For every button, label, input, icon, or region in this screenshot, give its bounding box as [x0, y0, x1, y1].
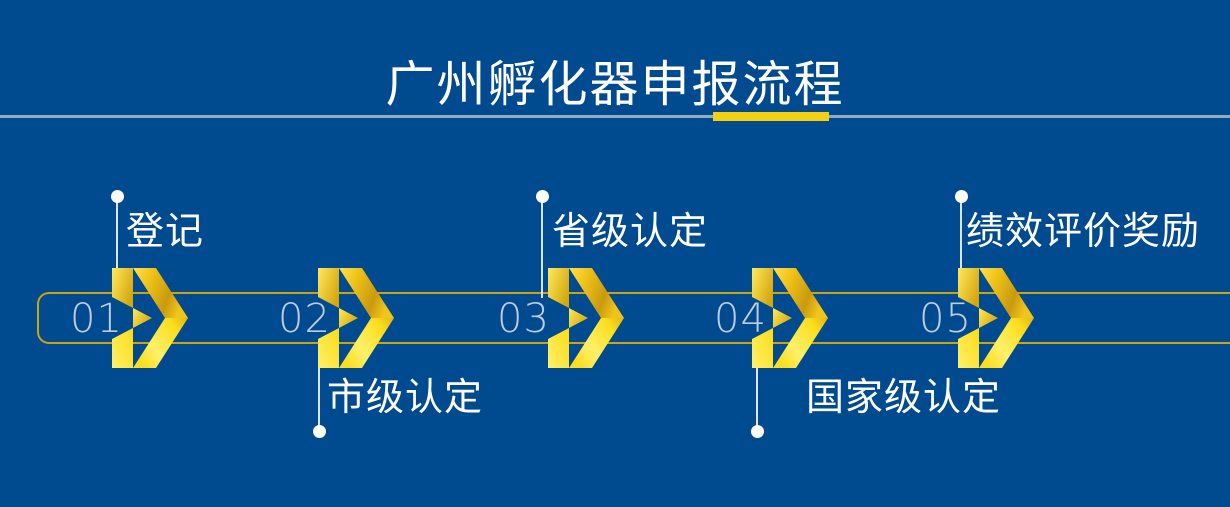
step-leader-dot	[313, 425, 326, 438]
step-leader-dot	[536, 190, 549, 203]
chevron-arrow-icon	[956, 264, 1036, 372]
flow-diagram-slide: 广州孵化器申报流程 01登记02市级认定03省级认定04国家级认定05绩效评价奖…	[0, 0, 1230, 507]
step-label-03: 省级认定	[552, 208, 708, 254]
chevron-arrow-icon	[316, 264, 396, 372]
timeline-track	[37, 292, 1230, 344]
step-label-05: 绩效评价奖励	[966, 208, 1200, 254]
chevron-arrow-icon	[110, 264, 190, 372]
step-leader-dot	[751, 425, 764, 438]
step-label-04: 国家级认定	[806, 374, 1001, 420]
step-leader-dot	[111, 190, 124, 203]
step-label-01: 登记	[126, 208, 204, 254]
step-number-03: 03	[497, 296, 550, 342]
step-leader-dot	[955, 190, 968, 203]
step-label-02: 市级认定	[327, 374, 483, 420]
title-divider-accent	[713, 112, 829, 121]
page-title: 广州孵化器申报流程	[0, 55, 1230, 115]
step-leader-line	[541, 196, 543, 298]
chevron-arrow-icon	[750, 264, 830, 372]
chevron-arrow-icon	[546, 264, 626, 372]
title-divider-line	[0, 115, 1230, 118]
